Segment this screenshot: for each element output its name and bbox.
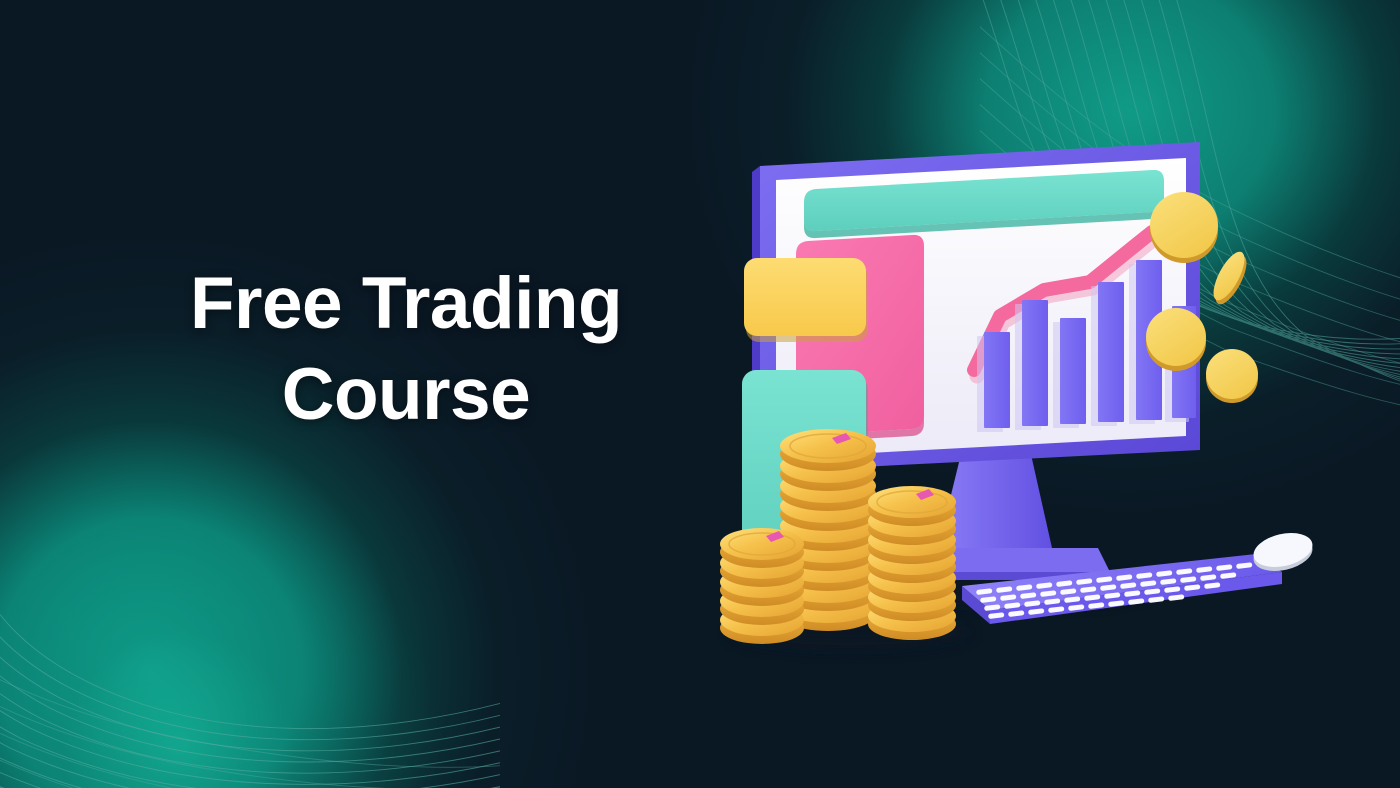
trading-illustration <box>700 120 1340 680</box>
bar-item <box>1015 300 1048 430</box>
page-title: Free Trading Course <box>96 258 716 441</box>
bar-item <box>977 332 1010 432</box>
yellow-floating-card <box>744 258 868 342</box>
gold-disc <box>1207 247 1252 308</box>
headline-line-2: Course <box>96 349 716 440</box>
promo-banner: Free Trading Course <box>0 0 1400 788</box>
coin-top <box>868 486 956 526</box>
coin-stack-left <box>720 528 804 644</box>
bar-item <box>1053 318 1086 428</box>
illustration-svg <box>700 120 1340 680</box>
mesh-lines-bottom-left <box>0 408 500 788</box>
coin-top <box>720 528 804 568</box>
coin-top <box>780 429 876 471</box>
gold-disc <box>1206 349 1258 403</box>
coin-stack-right <box>868 486 956 640</box>
gold-disc <box>1150 192 1218 263</box>
bar-item <box>1091 282 1124 426</box>
teal-glow-bottom-left-inner <box>0 488 440 788</box>
headline-line-1: Free Trading <box>96 258 716 349</box>
gold-disc <box>1146 308 1206 371</box>
